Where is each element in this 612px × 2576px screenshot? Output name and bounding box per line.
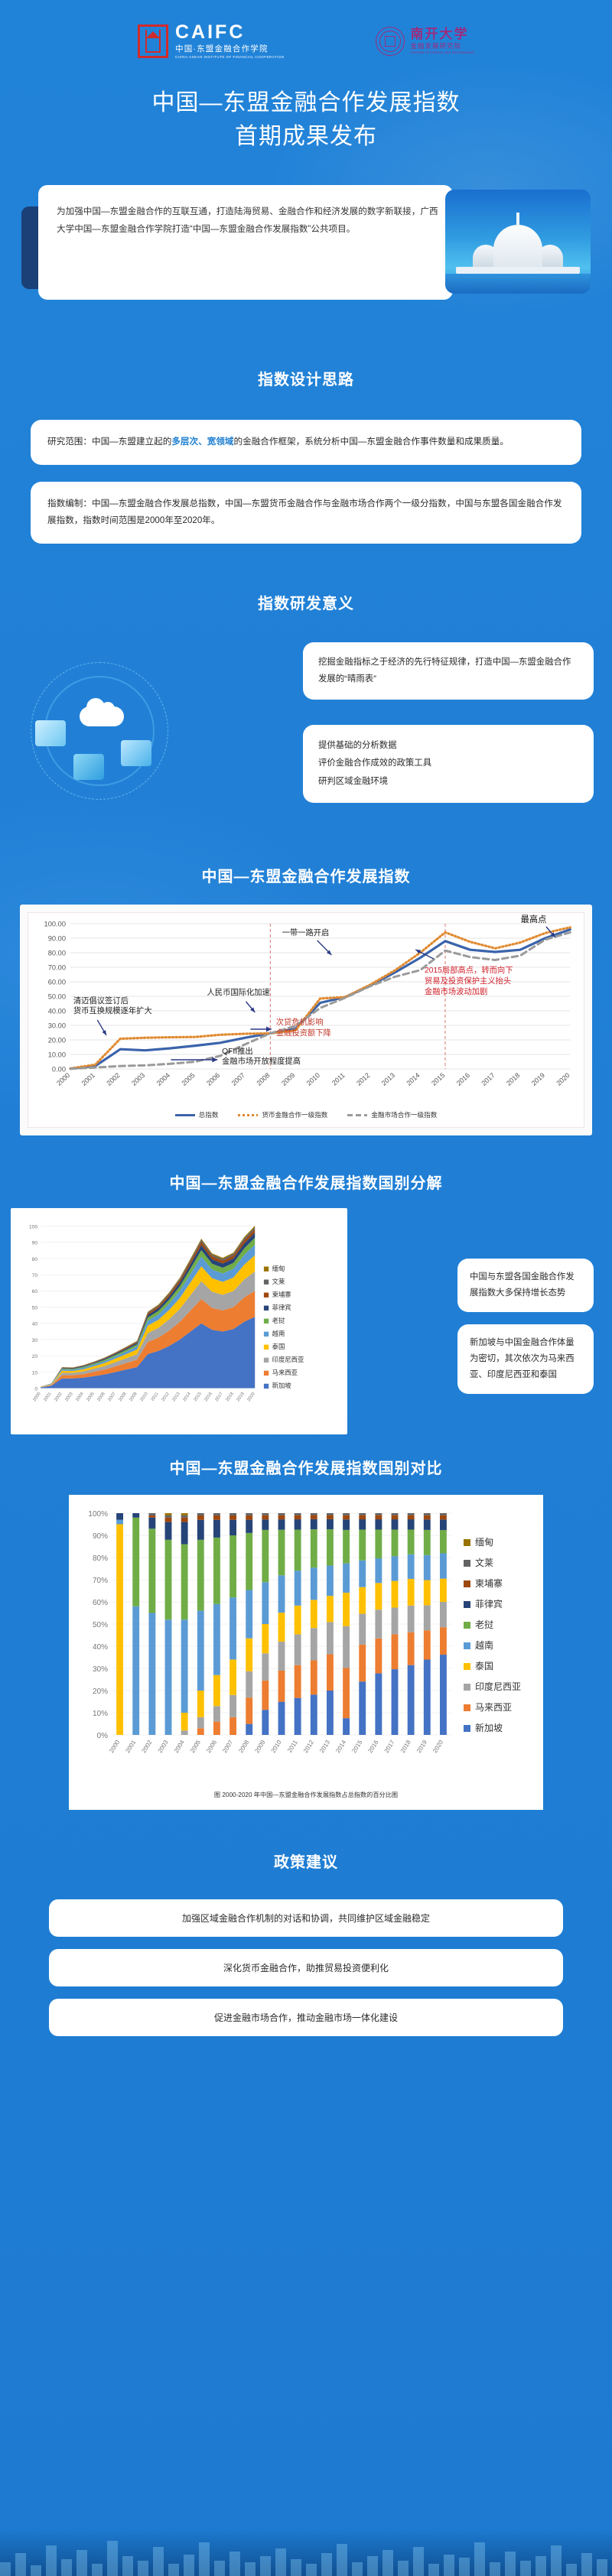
page-title-line1: 中国—东盟金融合作发展指数 bbox=[0, 86, 612, 120]
country-notes: 中国与东盟各国金融合作发展指数大多保持增长态势 新加坡与中国金融合作体量为密切，… bbox=[457, 1259, 594, 1406]
svg-text:2010: 2010 bbox=[305, 1071, 321, 1087]
skyline-building bbox=[275, 2548, 286, 2576]
svg-text:80.00: 80.00 bbox=[48, 948, 66, 957]
country-note-1: 中国与东盟各国金融合作发展指数大多保持增长态势 bbox=[457, 1259, 594, 1312]
skyline-building bbox=[428, 2564, 439, 2576]
skyline-building bbox=[229, 2552, 240, 2576]
svg-text:金融市场开放程度提高: 金融市场开放程度提高 bbox=[222, 1056, 301, 1066]
svg-text:2009: 2009 bbox=[280, 1071, 296, 1087]
skyline-building bbox=[581, 2553, 592, 2576]
svg-text:2018: 2018 bbox=[399, 1739, 412, 1754]
svg-text:2000: 2000 bbox=[108, 1739, 121, 1754]
skyline-building bbox=[398, 2561, 409, 2576]
section-title-country: 中国—东盟金融合作发展指数国别分解 bbox=[0, 1171, 612, 1193]
line-chart: 0.0010.0020.0030.0040.0050.0060.0070.008… bbox=[28, 913, 584, 1104]
svg-text:金融市场波动加剧: 金融市场波动加剧 bbox=[425, 986, 487, 996]
intro-text: 为加强中国—东盟金融合作的互联互通，打造陆海贸易、金融合作和经济发展的数字新联接… bbox=[38, 185, 453, 300]
skyline-building bbox=[352, 2562, 363, 2576]
svg-text:2006: 2006 bbox=[96, 1392, 106, 1402]
svg-text:越南: 越南 bbox=[272, 1330, 285, 1337]
skyline-building bbox=[474, 2542, 485, 2576]
svg-text:90%: 90% bbox=[93, 1532, 108, 1541]
svg-text:2011: 2011 bbox=[286, 1739, 299, 1754]
svg-text:2001: 2001 bbox=[43, 1392, 52, 1402]
policy-item-2: 促进金融市场合作，推动金融市场一体化建设 bbox=[49, 1999, 563, 2036]
svg-text:2007: 2007 bbox=[107, 1392, 116, 1402]
tech-cube-3 bbox=[121, 740, 151, 766]
svg-text:印度尼西亚: 印度尼西亚 bbox=[272, 1356, 304, 1363]
svg-text:2020: 2020 bbox=[555, 1071, 571, 1087]
svg-text:QFII推出: QFII推出 bbox=[222, 1046, 253, 1056]
legend-swatch-dashed bbox=[347, 1114, 367, 1116]
svg-text:2004: 2004 bbox=[173, 1739, 186, 1754]
design-box-scope: 研究范围：中国—东盟建立起的多层次、宽领域的金融合作框架，系统分析中国—东盟金融… bbox=[31, 420, 581, 465]
svg-text:2001: 2001 bbox=[80, 1071, 96, 1087]
svg-text:金融投资额下降: 金融投资额下降 bbox=[276, 1028, 332, 1038]
skyline-building bbox=[505, 2552, 516, 2576]
svg-text:2012: 2012 bbox=[161, 1392, 170, 1402]
skyline-building bbox=[291, 2559, 301, 2576]
svg-text:2016: 2016 bbox=[455, 1071, 471, 1087]
svg-text:2019: 2019 bbox=[236, 1392, 245, 1402]
svg-text:90.00: 90.00 bbox=[48, 934, 66, 942]
skyline-building bbox=[245, 2562, 256, 2576]
svg-text:20.00: 20.00 bbox=[48, 1035, 66, 1044]
skyline-building bbox=[31, 2565, 41, 2576]
policy-item-0: 加强区域金融合作机制的对话和协调，共同维护区域金融稳定 bbox=[49, 1899, 563, 1937]
svg-text:老挝: 老挝 bbox=[475, 1619, 493, 1630]
svg-text:0.00: 0.00 bbox=[52, 1064, 66, 1073]
skyline-building bbox=[15, 2553, 26, 2576]
svg-text:2004: 2004 bbox=[75, 1391, 85, 1402]
svg-text:60: 60 bbox=[32, 1289, 38, 1294]
skyline-building bbox=[306, 2564, 317, 2576]
svg-text:2019: 2019 bbox=[530, 1071, 546, 1087]
svg-text:文莱: 文莱 bbox=[272, 1278, 285, 1285]
skyline-building bbox=[61, 2559, 72, 2576]
svg-text:柬埔寨: 柬埔寨 bbox=[272, 1291, 292, 1298]
svg-text:泰国: 泰国 bbox=[475, 1661, 493, 1671]
legend-item-monetary: 货币金融合作一级指数 bbox=[238, 1110, 327, 1119]
svg-text:2018: 2018 bbox=[225, 1392, 234, 1402]
svg-text:2014: 2014 bbox=[334, 1739, 347, 1754]
legend-swatch-dotted bbox=[238, 1114, 258, 1116]
svg-text:70: 70 bbox=[32, 1273, 38, 1278]
skyline-building bbox=[459, 2558, 470, 2576]
svg-text:2018: 2018 bbox=[505, 1071, 521, 1087]
svg-text:2009: 2009 bbox=[129, 1392, 138, 1402]
logo-row: CAIFC 中国·东盟金融合作学院 CHINA-ASEAN INSTITUTE … bbox=[0, 0, 612, 59]
section-title-policy: 政策建议 bbox=[0, 1850, 612, 1872]
svg-text:2016: 2016 bbox=[366, 1739, 379, 1754]
svg-text:40: 40 bbox=[32, 1322, 38, 1327]
svg-text:老挝: 老挝 bbox=[272, 1317, 285, 1324]
svg-text:2012: 2012 bbox=[355, 1071, 371, 1087]
svg-text:10%: 10% bbox=[93, 1710, 108, 1718]
skyline-building bbox=[92, 2564, 103, 2576]
skyline-building bbox=[260, 2556, 271, 2576]
svg-text:2003: 2003 bbox=[64, 1392, 73, 1402]
nankai-en-name: Institute of Finance and Development bbox=[410, 51, 474, 55]
design-scope-highlight: 多层次、宽领域 bbox=[171, 437, 233, 447]
area-section: 0102030405060708090100200020012002200320… bbox=[0, 1208, 612, 1437]
meaning-item-0: 提供基础的分析数据 bbox=[318, 737, 578, 755]
skyline-building bbox=[153, 2547, 164, 2576]
skyline-building bbox=[337, 2544, 347, 2576]
svg-text:30.00: 30.00 bbox=[48, 1021, 66, 1029]
svg-text:菲律宾: 菲律宾 bbox=[475, 1598, 503, 1610]
section-title-meaning: 指数研发意义 bbox=[0, 591, 612, 613]
skyline-building bbox=[535, 2556, 546, 2576]
svg-text:2003: 2003 bbox=[157, 1739, 170, 1754]
bar-chart-caption: 图 2000-2020 年中国—东盟金融合作发展指数占总指数的百分比图 bbox=[75, 1785, 537, 1805]
skyline-building bbox=[413, 2547, 424, 2576]
svg-text:30: 30 bbox=[32, 1338, 38, 1343]
svg-text:一带一路开启: 一带一路开启 bbox=[282, 927, 330, 937]
svg-text:新加坡: 新加坡 bbox=[475, 1722, 503, 1733]
svg-text:2010: 2010 bbox=[139, 1391, 149, 1402]
svg-text:10.00: 10.00 bbox=[48, 1050, 66, 1058]
skyline-building bbox=[0, 2562, 11, 2576]
cloud-icon bbox=[80, 707, 124, 726]
svg-text:马来西亚: 马来西亚 bbox=[272, 1369, 298, 1376]
meaning-box-2: 提供基础的分析数据 评价金融合作成效的政策工具 研判区域金融环境 bbox=[303, 725, 594, 803]
svg-text:新加坡: 新加坡 bbox=[272, 1382, 292, 1389]
svg-text:80: 80 bbox=[32, 1257, 38, 1262]
svg-text:100.00: 100.00 bbox=[44, 919, 67, 927]
svg-text:20%: 20% bbox=[93, 1688, 108, 1696]
svg-text:10: 10 bbox=[32, 1370, 38, 1376]
tech-cube-1 bbox=[35, 720, 66, 746]
bar-chart-card: 0%10%20%30%40%50%60%70%80%90%100%2000200… bbox=[69, 1495, 543, 1810]
nankai-sub-name: 金融发展研究院 bbox=[410, 43, 474, 50]
svg-text:马来西亚: 马来西亚 bbox=[475, 1702, 512, 1713]
skyline-building bbox=[551, 2545, 562, 2576]
line-chart-card: 0.0010.0020.0030.0040.0050.0060.0070.008… bbox=[20, 905, 592, 1135]
skyline-building bbox=[107, 2541, 118, 2576]
svg-text:2012: 2012 bbox=[302, 1739, 315, 1754]
section-title-compare: 中国—东盟金融合作发展指数国别对比 bbox=[0, 1456, 612, 1478]
skyline-building bbox=[214, 2561, 225, 2576]
section-title-design: 指数设计思路 bbox=[0, 367, 612, 389]
svg-text:清迈倡议签订后: 清迈倡议签订后 bbox=[73, 996, 129, 1005]
intro-section: 为加强中国—东盟金融合作的互联互通，打造陆海贸易、金融合作和经济发展的数字新联接… bbox=[21, 185, 591, 300]
tech-cube-2 bbox=[73, 754, 104, 780]
svg-text:泰国: 泰国 bbox=[272, 1343, 285, 1350]
svg-text:2017: 2017 bbox=[480, 1071, 496, 1087]
svg-text:2015: 2015 bbox=[350, 1739, 363, 1754]
skyline-building bbox=[199, 2542, 210, 2576]
svg-text:2007: 2007 bbox=[221, 1739, 234, 1754]
meaning-box-1: 挖掘金融指标之于经济的先行特征规律，打造中国—东盟金融合作发展的“晴雨表” bbox=[303, 642, 594, 700]
caifc-en-name: CHINA-ASEAN INSTITUTE OF FINANCIAL COOPE… bbox=[175, 56, 284, 60]
policy-list: 加强区域金融合作机制的对话和协调，共同维护区域金融稳定 深化货币金融合作，助推贸… bbox=[0, 1899, 612, 2036]
skyline-building bbox=[566, 2564, 577, 2576]
skyline-building bbox=[184, 2555, 194, 2576]
svg-text:2014: 2014 bbox=[182, 1391, 192, 1402]
svg-text:80%: 80% bbox=[93, 1554, 108, 1563]
svg-text:2000: 2000 bbox=[32, 1391, 42, 1402]
svg-text:0%: 0% bbox=[97, 1732, 109, 1740]
legend-label-monetary: 货币金融合作一级指数 bbox=[262, 1111, 327, 1119]
svg-text:90: 90 bbox=[32, 1240, 38, 1246]
skyline-building bbox=[382, 2550, 393, 2576]
svg-text:2019: 2019 bbox=[415, 1739, 428, 1754]
nankai-cn-name: 南开大学 bbox=[410, 28, 474, 41]
page-title: 中国—东盟金融合作发展指数 首期成果发布 bbox=[0, 86, 612, 153]
svg-text:2002: 2002 bbox=[105, 1071, 121, 1087]
svg-text:60%: 60% bbox=[93, 1599, 108, 1607]
svg-text:柬埔寨: 柬埔寨 bbox=[475, 1577, 503, 1589]
building-illustration bbox=[445, 190, 591, 294]
svg-text:人民币国际化加速: 人民币国际化加速 bbox=[207, 987, 269, 997]
svg-text:2008: 2008 bbox=[255, 1071, 271, 1087]
svg-text:2013: 2013 bbox=[318, 1739, 331, 1754]
svg-text:2008: 2008 bbox=[118, 1392, 127, 1402]
meaning-item-1: 评价金融合作成效的政策工具 bbox=[318, 755, 578, 772]
skyline-building bbox=[122, 2556, 133, 2576]
svg-text:菲律宾: 菲律宾 bbox=[272, 1304, 291, 1311]
svg-text:2013: 2013 bbox=[171, 1392, 181, 1402]
footer-skyline bbox=[0, 2529, 612, 2576]
svg-text:2015: 2015 bbox=[430, 1071, 446, 1087]
svg-text:70%: 70% bbox=[93, 1577, 108, 1585]
infographic-page: CAIFC 中国·东盟金融合作学院 CHINA-ASEAN INSTITUTE … bbox=[0, 0, 612, 2576]
svg-text:70.00: 70.00 bbox=[48, 963, 66, 971]
svg-text:2005: 2005 bbox=[86, 1392, 95, 1402]
svg-text:50.00: 50.00 bbox=[48, 992, 66, 1000]
building-base bbox=[456, 267, 580, 274]
section-title-index: 中国—东盟金融合作发展指数 bbox=[0, 864, 612, 886]
svg-text:2002: 2002 bbox=[140, 1739, 153, 1754]
area-chart-card: 0102030405060708090100200020012002200320… bbox=[11, 1208, 347, 1434]
skyline-building bbox=[46, 2545, 57, 2576]
skyline-building bbox=[490, 2562, 500, 2576]
svg-text:30%: 30% bbox=[93, 1665, 108, 1674]
svg-text:40%: 40% bbox=[93, 1643, 108, 1652]
svg-text:2016: 2016 bbox=[203, 1392, 213, 1402]
line-chart-inner: 0.0010.0020.0030.0040.0050.0060.0070.008… bbox=[28, 912, 584, 1128]
svg-text:2017: 2017 bbox=[383, 1739, 396, 1754]
svg-text:2011: 2011 bbox=[151, 1392, 160, 1402]
svg-text:2011: 2011 bbox=[330, 1071, 347, 1087]
svg-text:2007: 2007 bbox=[230, 1071, 246, 1087]
svg-text:50%: 50% bbox=[93, 1621, 108, 1629]
nankai-logo: 南开大学 金融发展研究院 Institute of Finance and De… bbox=[376, 27, 474, 56]
legend-item-total: 总指数 bbox=[175, 1110, 219, 1119]
caifc-cn-name: 中国·东盟金融合作学院 bbox=[175, 45, 284, 54]
svg-text:2015局部高点，转而向下: 2015局部高点，转而向下 bbox=[425, 965, 513, 975]
svg-text:越南: 越南 bbox=[475, 1639, 493, 1651]
design-box-compilation: 指数编制：中国—东盟金融合作发展总指数，中国—东盟货币金融合作与金融市场合作两个… bbox=[31, 482, 581, 544]
svg-text:最高点: 最高点 bbox=[521, 914, 547, 924]
svg-text:100: 100 bbox=[29, 1224, 38, 1230]
policy-item-1: 深化货币金融合作，助推贸易投资便利化 bbox=[49, 1949, 563, 1986]
water-band bbox=[445, 274, 591, 294]
skyline-building bbox=[138, 2561, 148, 2576]
svg-text:文莱: 文莱 bbox=[475, 1557, 493, 1568]
svg-text:2003: 2003 bbox=[130, 1071, 146, 1087]
meaning-item-2: 研判区域金融环境 bbox=[318, 773, 578, 791]
svg-text:货币互换规模逐年扩大: 货币互换规模逐年扩大 bbox=[73, 1005, 152, 1015]
meaning-section: 挖掘金融指标之于经济的先行特征规律，打造中国—东盟金融合作发展的“晴雨表” 提供… bbox=[0, 633, 612, 832]
line-chart-legend: 总指数 货币金融合作一级指数 金融市场合作一级指数 bbox=[28, 1104, 584, 1127]
svg-text:2004: 2004 bbox=[155, 1071, 171, 1087]
skyline-building bbox=[520, 2561, 531, 2576]
svg-text:2009: 2009 bbox=[253, 1739, 266, 1754]
svg-text:贸易及投资保护主义抬头: 贸易及投资保护主义抬头 bbox=[425, 976, 511, 986]
svg-text:2006: 2006 bbox=[205, 1739, 218, 1754]
nankai-seal-icon bbox=[376, 27, 405, 56]
caifc-abbr: CAIFC bbox=[175, 23, 284, 42]
svg-text:2000: 2000 bbox=[55, 1071, 71, 1087]
svg-text:缅甸: 缅甸 bbox=[475, 1537, 493, 1548]
svg-text:60.00: 60.00 bbox=[48, 977, 66, 986]
caifc-mark-icon bbox=[138, 24, 168, 58]
svg-text:缅甸: 缅甸 bbox=[272, 1265, 285, 1272]
svg-text:2013: 2013 bbox=[380, 1071, 396, 1087]
svg-text:50: 50 bbox=[32, 1305, 38, 1311]
svg-text:次贷危机影响: 次贷危机影响 bbox=[276, 1017, 324, 1027]
svg-text:0: 0 bbox=[34, 1386, 37, 1392]
svg-text:2014: 2014 bbox=[405, 1071, 421, 1087]
skyline-building bbox=[321, 2553, 332, 2576]
tech-illustration bbox=[14, 650, 205, 818]
caifc-logo: CAIFC 中国·东盟金融合作学院 CHINA-ASEAN INSTITUTE … bbox=[138, 23, 284, 59]
legend-swatch-solid bbox=[175, 1114, 195, 1116]
svg-text:2005: 2005 bbox=[189, 1739, 202, 1754]
country-note-2: 新加坡与中国金融合作体量为密切，其次依次为马来西亚、印度尼西亚和泰国 bbox=[457, 1324, 594, 1394]
legend-label-market: 金融市场合作一级指数 bbox=[371, 1111, 437, 1119]
svg-text:2015: 2015 bbox=[193, 1392, 202, 1402]
skyline-building bbox=[367, 2556, 378, 2576]
svg-text:2002: 2002 bbox=[54, 1392, 63, 1402]
svg-text:2005: 2005 bbox=[180, 1071, 196, 1087]
design-scope-suffix: 的金融合作框架，系统分析中国—东盟金融合作事件数量和成果质量。 bbox=[234, 437, 509, 447]
svg-text:2008: 2008 bbox=[237, 1739, 250, 1754]
svg-text:2010: 2010 bbox=[270, 1739, 283, 1754]
page-title-line2: 首期成果发布 bbox=[0, 120, 612, 154]
svg-text:印度尼西亚: 印度尼西亚 bbox=[475, 1681, 521, 1692]
svg-text:2001: 2001 bbox=[124, 1739, 137, 1754]
svg-text:20: 20 bbox=[32, 1354, 38, 1359]
svg-text:100%: 100% bbox=[88, 1510, 108, 1519]
skyline-building bbox=[76, 2550, 87, 2576]
legend-item-market: 金融市场合作一级指数 bbox=[347, 1110, 437, 1119]
svg-text:2006: 2006 bbox=[205, 1071, 221, 1087]
building-main bbox=[493, 225, 542, 268]
legend-label-total: 总指数 bbox=[199, 1111, 219, 1119]
skyline-building bbox=[168, 2564, 179, 2576]
svg-text:2020: 2020 bbox=[431, 1739, 444, 1754]
svg-text:2017: 2017 bbox=[214, 1392, 223, 1402]
skyline-building bbox=[597, 2559, 607, 2576]
svg-text:40.00: 40.00 bbox=[48, 1006, 66, 1015]
svg-text:2020: 2020 bbox=[247, 1391, 257, 1402]
design-scope-prefix: 研究范围：中国—东盟建立起的 bbox=[47, 437, 171, 447]
skyline-building bbox=[444, 2555, 454, 2576]
